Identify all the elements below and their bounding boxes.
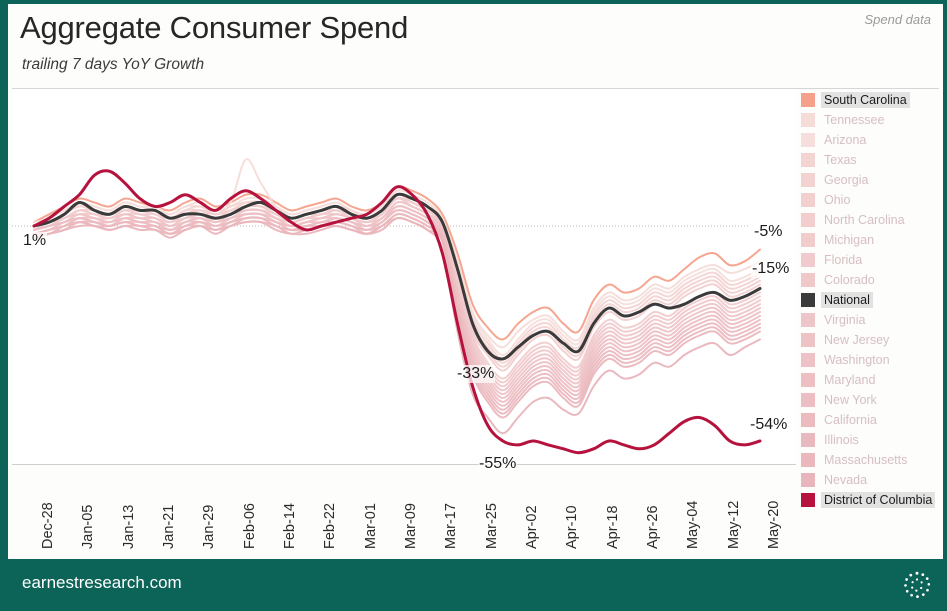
- legend-item-label: Tennessee: [821, 112, 887, 128]
- top-band-end-label: -5%: [753, 223, 783, 241]
- legend-item-label: Maryland: [821, 372, 878, 388]
- legend-item-label: New Jersey: [821, 332, 892, 348]
- x-tick-label: Apr-18: [605, 505, 621, 549]
- x-tick-label: Mar-01: [363, 503, 379, 549]
- legend-swatch-icon: [801, 413, 815, 427]
- legend-item-arizona[interactable]: Arizona: [801, 130, 947, 150]
- legend-swatch-icon: [801, 153, 815, 167]
- x-tick-label: Feb-06: [242, 503, 258, 549]
- legend-item-virginia[interactable]: Virginia: [801, 310, 947, 330]
- x-tick-label: Mar-25: [484, 503, 500, 549]
- chart-subtitle: trailing 7 days YoY Growth: [22, 56, 204, 74]
- legend-item-florida[interactable]: Florida: [801, 250, 947, 270]
- series-line-california: [34, 214, 760, 410]
- legend-item-district-of-columbia[interactable]: District of Columbia: [801, 490, 947, 510]
- legend-item-label: Nevada: [821, 472, 870, 488]
- legend-item-tennessee[interactable]: Tennessee: [801, 110, 947, 130]
- legend-swatch-icon: [801, 133, 815, 147]
- national-end-label: -15%: [751, 260, 790, 278]
- x-tick-label: Feb-14: [282, 503, 298, 549]
- legend-item-california[interactable]: California: [801, 410, 947, 430]
- legend-item-new-jersey[interactable]: New Jersey: [801, 330, 947, 350]
- x-tick-label: Jan-21: [161, 505, 177, 549]
- x-tick-label: May-20: [766, 501, 782, 549]
- chart-lines-svg: [12, 89, 796, 464]
- x-tick-label: Dec-28: [40, 502, 56, 549]
- legend-item-label: Massachusetts: [821, 452, 910, 468]
- legend-swatch-icon: [801, 233, 815, 247]
- legend-item-north-carolina[interactable]: North Carolina: [801, 210, 947, 230]
- legend-swatch-icon: [801, 273, 815, 287]
- legend-item-label: California: [821, 412, 880, 428]
- legend-item-label: Colorado: [821, 272, 878, 288]
- x-tick-label: Jan-29: [201, 505, 217, 549]
- national-trough-label: -33%: [456, 365, 495, 383]
- legend-item-colorado[interactable]: Colorado: [801, 270, 947, 290]
- legend-item-label: Virginia: [821, 312, 868, 328]
- chart-legend: South CarolinaTennesseeArizonaTexasGeorg…: [801, 90, 947, 510]
- chart-footer: earnestresearch.com: [8, 559, 947, 611]
- legend-swatch-icon: [801, 433, 815, 447]
- x-tick-label: Mar-09: [403, 503, 419, 549]
- x-tick-label: Apr-10: [564, 505, 580, 549]
- legend-item-label: District of Columbia: [821, 492, 935, 508]
- x-tick-label: Feb-22: [322, 503, 338, 549]
- legend-item-label: Michigan: [821, 232, 877, 248]
- legend-item-label: National: [821, 292, 873, 308]
- legend-item-national[interactable]: National: [801, 290, 947, 310]
- legend-item-new-york[interactable]: New York: [801, 390, 947, 410]
- source-note: Spend data: [864, 12, 931, 27]
- dc-trough-label: -55%: [478, 455, 517, 473]
- dc-end-label: -54%: [749, 416, 788, 434]
- legend-swatch-icon: [801, 313, 815, 327]
- legend-swatch-icon: [801, 453, 815, 467]
- legend-item-label: Florida: [821, 252, 865, 268]
- legend-item-nevada[interactable]: Nevada: [801, 470, 947, 490]
- legend-item-label: South Carolina: [821, 92, 910, 108]
- series-line-district-of-columbia: [34, 171, 760, 453]
- legend-item-label: Georgia: [821, 172, 871, 188]
- legend-item-washington[interactable]: Washington: [801, 350, 947, 370]
- x-tick-label: May-04: [685, 501, 701, 549]
- legend-swatch-icon: [801, 493, 815, 507]
- legend-item-maryland[interactable]: Maryland: [801, 370, 947, 390]
- legend-swatch-icon: [801, 393, 815, 407]
- legend-swatch-icon: [801, 253, 815, 267]
- footer-url[interactable]: earnestresearch.com: [22, 573, 182, 593]
- legend-item-illinois[interactable]: Illinois: [801, 430, 947, 450]
- x-tick-label: Apr-02: [524, 505, 540, 549]
- legend-swatch-icon: [801, 213, 815, 227]
- earnest-dotted-circle-logo-icon: [901, 569, 933, 601]
- legend-swatch-icon: [801, 173, 815, 187]
- legend-swatch-icon: [801, 193, 815, 207]
- legend-item-label: Illinois: [821, 432, 862, 448]
- x-tick-label: Mar-17: [443, 503, 459, 549]
- chart-plot-area: [12, 89, 796, 464]
- chart-card: Aggregate Consumer Spend trailing 7 days…: [0, 0, 947, 611]
- legend-item-label: Washington: [821, 352, 893, 368]
- legend-swatch-icon: [801, 353, 815, 367]
- baseline-label: 1%: [22, 232, 47, 250]
- legend-swatch-icon: [801, 293, 815, 307]
- legend-swatch-icon: [801, 93, 815, 107]
- series-line-new-jersey: [34, 206, 760, 394]
- legend-swatch-icon: [801, 333, 815, 347]
- legend-item-ohio[interactable]: Ohio: [801, 190, 947, 210]
- legend-item-georgia[interactable]: Georgia: [801, 170, 947, 190]
- legend-item-label: Texas: [821, 152, 860, 168]
- legend-item-label: Arizona: [821, 132, 869, 148]
- legend-swatch-icon: [801, 113, 815, 127]
- legend-swatch-icon: [801, 473, 815, 487]
- x-tick-label: Jan-13: [121, 505, 137, 549]
- x-tick-label: Jan-05: [80, 505, 96, 549]
- legend-item-michigan[interactable]: Michigan: [801, 230, 947, 250]
- x-axis-line: [12, 464, 796, 465]
- legend-item-label: Ohio: [821, 192, 853, 208]
- x-tick-label: Apr-26: [645, 505, 661, 549]
- legend-item-label: New York: [821, 392, 880, 408]
- page-title: Aggregate Consumer Spend: [20, 10, 408, 46]
- legend-item-south-carolina[interactable]: South Carolina: [801, 90, 947, 110]
- legend-item-texas[interactable]: Texas: [801, 150, 947, 170]
- x-tick-label: May-12: [726, 501, 742, 549]
- chart-header: Aggregate Consumer Spend trailing 7 days…: [8, 4, 943, 88]
- legend-item-massachusetts[interactable]: Massachusetts: [801, 450, 947, 470]
- legend-item-label: North Carolina: [821, 212, 908, 228]
- legend-swatch-icon: [801, 373, 815, 387]
- series-line-new-york: [34, 210, 760, 406]
